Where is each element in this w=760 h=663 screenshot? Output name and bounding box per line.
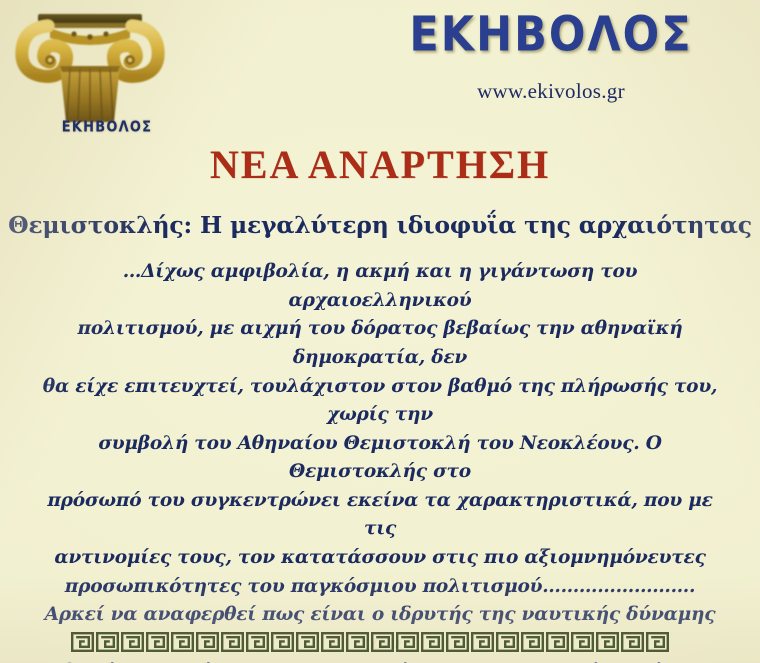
greek-meander-border — [70, 631, 670, 653]
article-body-line: πρόσωπό του συγκεντρώνει εκείνα τα χαρακ… — [29, 487, 731, 544]
poster-canvas: ΕΚΗΒΟΛΟΣ ΕΚΗΒΟΛΟΣ www.ekivolos.gr ΝΕΑ ΑΝ… — [0, 0, 760, 663]
article-body-line: πολιτισμού, με αιχμή του δόρατος βεβαίως… — [29, 315, 731, 372]
poster-header: ΕΚΗΒΟΛΟΣ ΕΚΗΒΟΛΟΣ www.ekivolos.gr — [0, 0, 760, 140]
brand-block: ΕΚΗΒΟΛΟΣ www.ekivolos.gr — [386, 14, 716, 104]
page-title: ΝΕΑ ΑΝΑΡΤΗΣΗ — [0, 144, 760, 186]
article-body-line: Αθηνών, που γέννησε την ηγεμονία στην Αν… — [29, 658, 731, 663]
meander-pattern-icon — [70, 631, 670, 653]
logo-wordmark: ΕΚΗΒΟΛΟΣ — [52, 119, 162, 137]
article-body: …Δίχως αμφιβολία, η ακμή και η γιγάντωση… — [29, 258, 731, 663]
article-body-line: προσωπικότητες του παγκόσμιου πολιτισμού… — [29, 573, 731, 602]
article-body-line: αντινομίες τους, τον κατατάσσουν στις πι… — [29, 544, 731, 573]
article-body-line: θα είχε επιτευχτεί, τουλάχιστον στον βαθ… — [29, 373, 731, 430]
article-body-line: συμβολή του Αθηναίου Θεμιστοκλή του Νεοκ… — [29, 430, 731, 487]
site-logo: ΕΚΗΒΟΛΟΣ — [14, 8, 166, 148]
ionic-column-capital-icon — [14, 8, 166, 124]
brand-wordmark: ΕΚΗΒΟΛΟΣ — [386, 11, 716, 59]
article-body-line: …Δίχως αμφιβολία, η ακμή και η γιγάντωση… — [29, 258, 731, 315]
site-url[interactable]: www.ekivolos.gr — [386, 79, 716, 104]
article-subtitle: Θεμιστοκλής: Η μεγαλύτερη ιδιοφυΐα της α… — [0, 213, 760, 239]
